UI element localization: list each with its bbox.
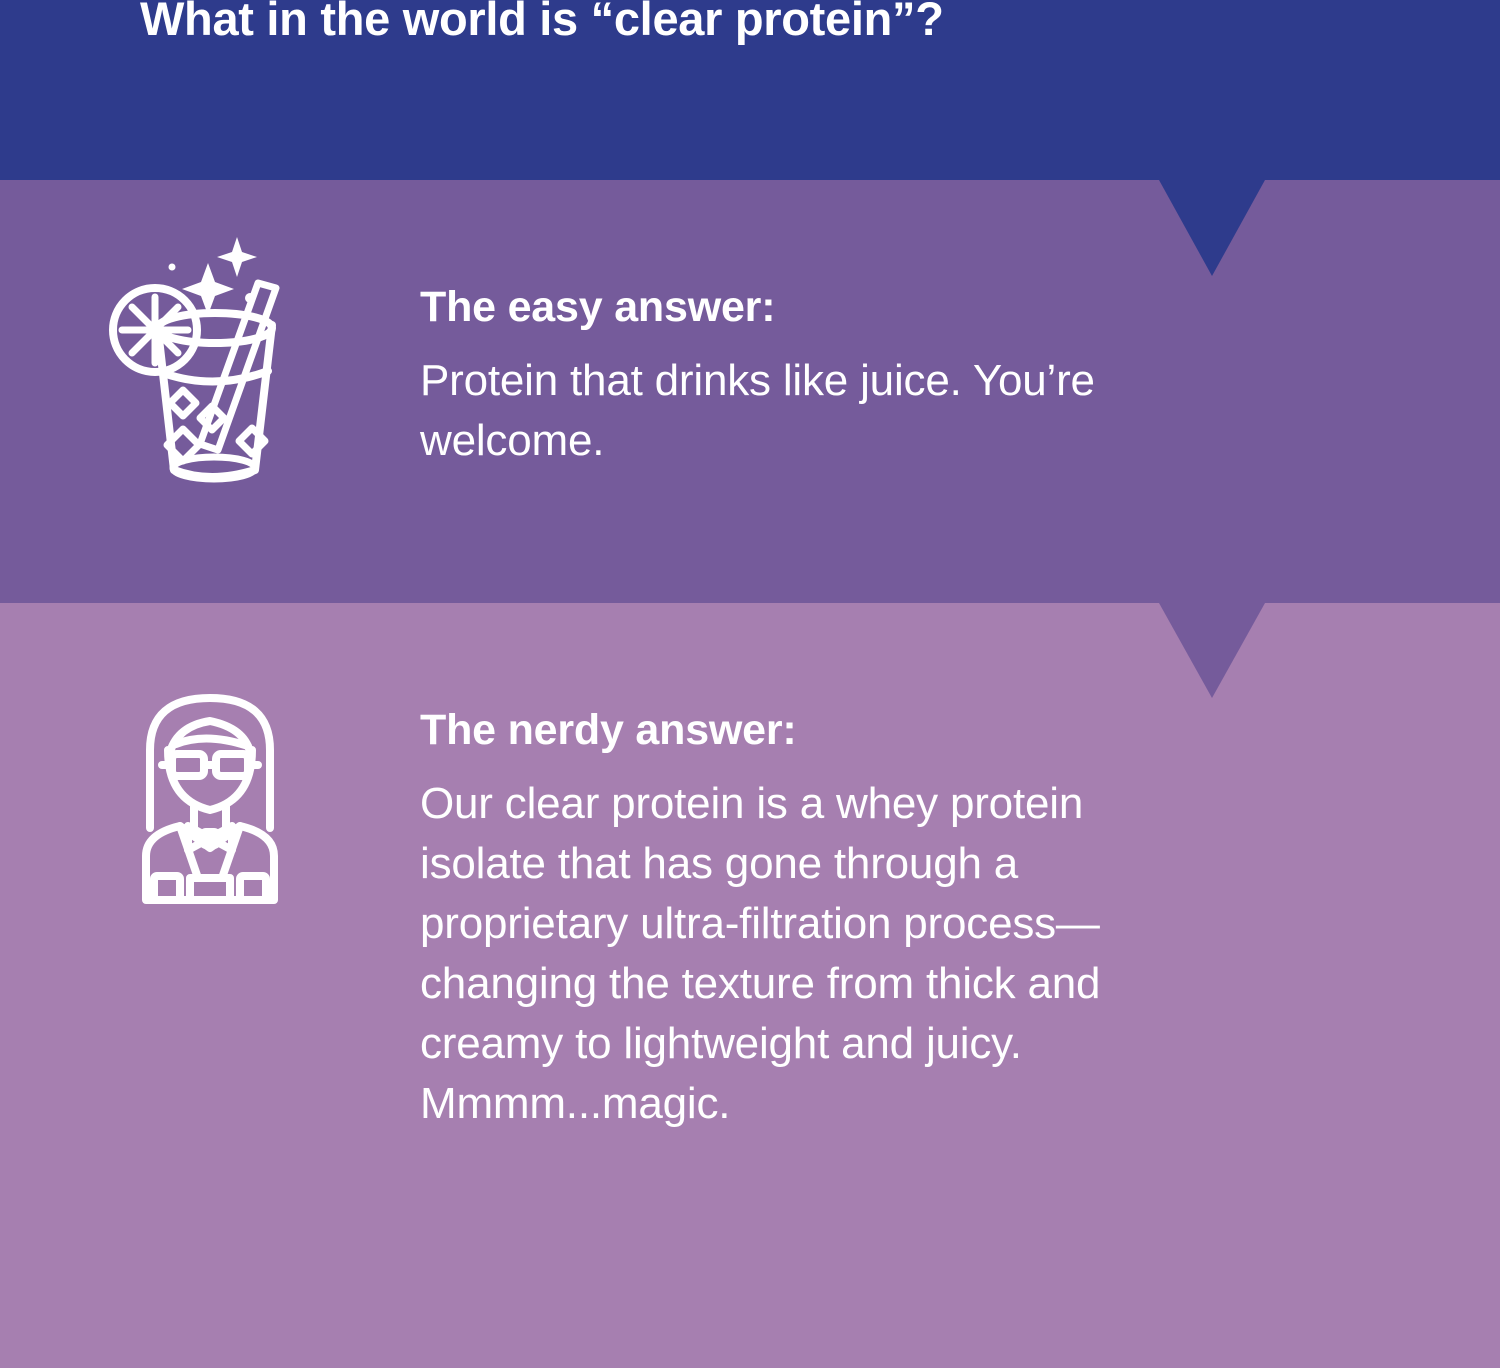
scientist-person-icon (128, 688, 293, 913)
easy-answer-text-container: The easy answer: Protein that drinks lik… (420, 180, 1260, 495)
easy-answer-heading: The easy answer: (420, 281, 1260, 333)
nerdy-answer-row: The nerdy answer: Our clear protein is a… (0, 603, 1260, 1134)
nerdy-answer-body: Our clear protein is a whey protein isol… (420, 774, 1210, 1134)
nerdy-answer-heading: The nerdy answer: (420, 704, 1260, 756)
page-title: What in the world is “clear protein”? (140, 0, 944, 50)
infographic-page: What in the world is “clear protein”? (0, 0, 1500, 1368)
nerdy-answer-text-container: The nerdy answer: Our clear protein is a… (420, 603, 1260, 1134)
nerdy-answer-icon-container (0, 603, 420, 1134)
easy-answer-icon-container (0, 180, 420, 495)
easy-answer-row: The easy answer: Protein that drinks lik… (0, 180, 1260, 495)
juice-glass-icon (100, 225, 320, 495)
easy-answer-body: Protein that drinks like juice. You’re w… (420, 351, 1260, 471)
